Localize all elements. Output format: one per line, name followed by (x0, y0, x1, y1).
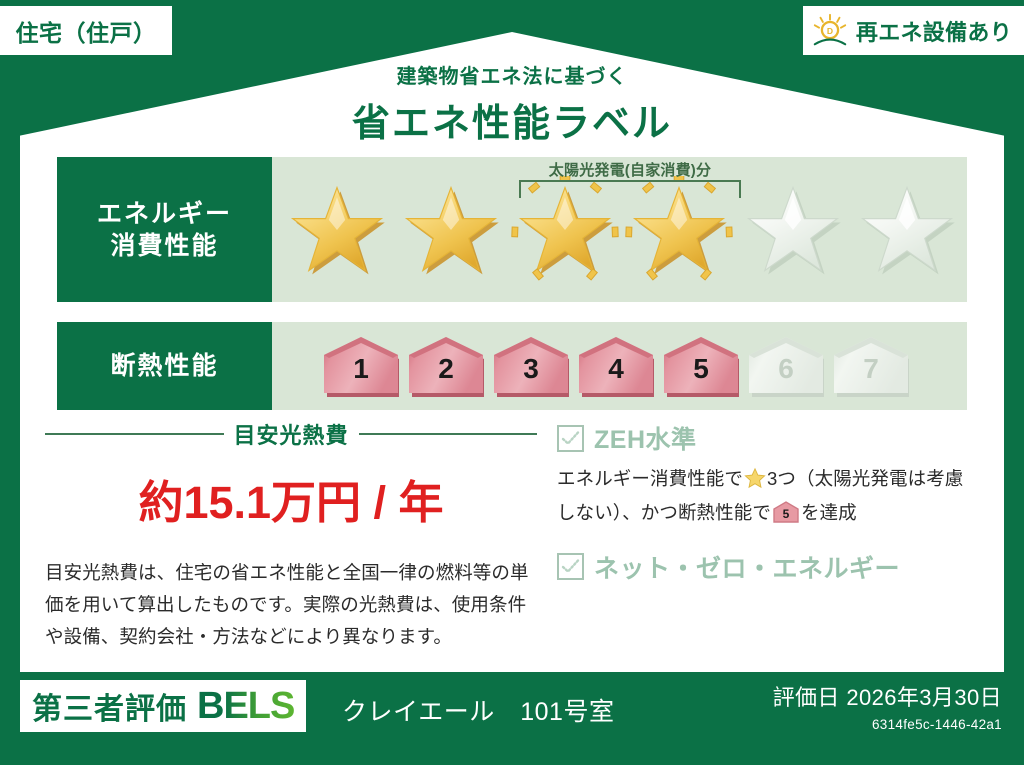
insulation-grade-number: 3 (490, 353, 572, 385)
zeh-desc-part1: エネルギー消費性能で (557, 468, 743, 489)
inline-star-icon (744, 467, 766, 498)
net-zero-energy-row: ネット・ゼロ・エネルギー (557, 549, 977, 585)
evaluation-info: 評価日 2026年3月30日 6314fe5c-1446-42a1 (773, 680, 1002, 732)
energy-performance-label: エネルギー 消費性能 (57, 157, 272, 302)
zeh-checkbox[interactable] (557, 425, 584, 452)
title-main: 省エネ性能ラベル (0, 92, 1024, 147)
label-footer: 第三者評価 BELS クレイエール 101号室 評価日 2026年3月30日 6… (0, 672, 1024, 765)
utility-cost-block: 目安光熱費 約15.1万円 / 年 目安光熱費は、住宅の省エネ性能と全国一律の燃… (45, 418, 537, 652)
label-title-block: 建築物省エネ法に基づく 省エネ性能ラベル (0, 60, 1024, 147)
insulation-grade-5-achieved: 5 (660, 335, 742, 397)
building-type-tag: 住宅（住戸） (0, 6, 172, 55)
star-6-empty (850, 171, 964, 289)
insulation-grade-group: 1234567 (272, 322, 967, 410)
insulation-grade-3-achieved: 3 (490, 335, 572, 397)
insulation-performance-body: 1234567 (272, 322, 967, 410)
heading-rule-right (359, 433, 538, 435)
zeh-desc-part3: を達成 (801, 502, 857, 523)
bels-en-logo: BELS (197, 685, 294, 728)
energy-label-line1: エネルギー (97, 198, 232, 230)
utility-cost-heading: 目安光熱費 (45, 418, 537, 450)
heading-rule-left (45, 433, 224, 435)
insulation-grade-number: 6 (745, 353, 827, 385)
evaluation-date: 評価日 2026年3月30日 (773, 680, 1002, 712)
solar-sun-icon: D (811, 12, 849, 50)
net-zero-energy-checkbox[interactable] (557, 553, 584, 580)
star-5-empty (736, 171, 850, 289)
zeh-description: エネルギー消費性能で 3つ（太陽光発電は考慮しない）、かつ断熱性能で 5 を達成 (557, 464, 977, 532)
insulation-grade-7-unachieved: 7 (830, 335, 912, 397)
check-icon (561, 557, 580, 576)
insulation-label-line1: 断熱性能 (110, 350, 218, 382)
star-1-filled (280, 171, 394, 289)
zeh-standard-row: ZEH水準 (557, 420, 977, 456)
net-zero-energy-label: ネット・ゼロ・エネルギー (594, 549, 900, 585)
insulation-grade-number: 1 (320, 353, 402, 385)
insulation-grade-2-achieved: 2 (405, 335, 487, 397)
inline-house-grade-number: 5 (783, 507, 790, 521)
utility-cost-note: 目安光熱費は、住宅の省エネ性能と全国一律の燃料等の単価を用いて算出したものです。… (45, 557, 537, 652)
energy-performance-row: エネルギー 消費性能 太陽光発電(自家消費)分 (57, 157, 967, 302)
bels-logo-plate: 第三者評価 BELS (20, 680, 306, 732)
zeh-block: ZEH水準 エネルギー消費性能で 3つ（太陽光発電は考慮しない）、かつ断熱性能で… (557, 420, 977, 585)
insulation-grade-number: 4 (575, 353, 657, 385)
utility-cost-heading-label: 目安光熱費 (234, 418, 349, 450)
evaluation-id: 6314fe5c-1446-42a1 (773, 717, 1002, 732)
energy-performance-label: 住宅（住戸） D 再エネ設備あり 建築物省エネ法に基づく 省エネ性能ラベル エネ… (0, 0, 1024, 765)
building-type-label: 住宅（住戸） (16, 14, 157, 48)
bels-jp-label: 第三者評価 (32, 684, 187, 728)
zeh-standard-label: ZEH水準 (594, 420, 697, 456)
energy-label-line2: 消費性能 (110, 230, 218, 262)
insulation-grade-6-unachieved: 6 (745, 335, 827, 397)
insulation-grade-number: 7 (830, 353, 912, 385)
insulation-grade-1-achieved: 1 (320, 335, 402, 397)
insulation-grade-4-achieved: 4 (575, 335, 657, 397)
renewable-equipment-badge: D 再エネ設備あり (803, 6, 1024, 55)
solar-generation-note: 太陽光発電(自家消費)分 (515, 159, 745, 180)
renewable-badge-label: 再エネ設備あり (856, 15, 1012, 47)
insulation-performance-label: 断熱性能 (57, 322, 272, 410)
insulation-grade-number: 5 (660, 353, 742, 385)
star-2-filled (394, 171, 508, 289)
insulation-grade-number: 2 (405, 353, 487, 385)
insulation-performance-row: 断熱性能 1234567 (57, 322, 967, 410)
check-icon (561, 429, 580, 448)
solar-range-bracket (519, 180, 741, 198)
energy-performance-body: 太陽光発電(自家消費)分 (272, 157, 967, 302)
svg-text:D: D (827, 25, 833, 35)
title-subtitle: 建築物省エネ法に基づく (0, 60, 1024, 89)
utility-cost-value: 約15.1万円 / 年 (45, 466, 537, 531)
building-name: クレイエール 101号室 (342, 692, 614, 728)
inline-house-grade-icon: 5 (772, 501, 800, 532)
